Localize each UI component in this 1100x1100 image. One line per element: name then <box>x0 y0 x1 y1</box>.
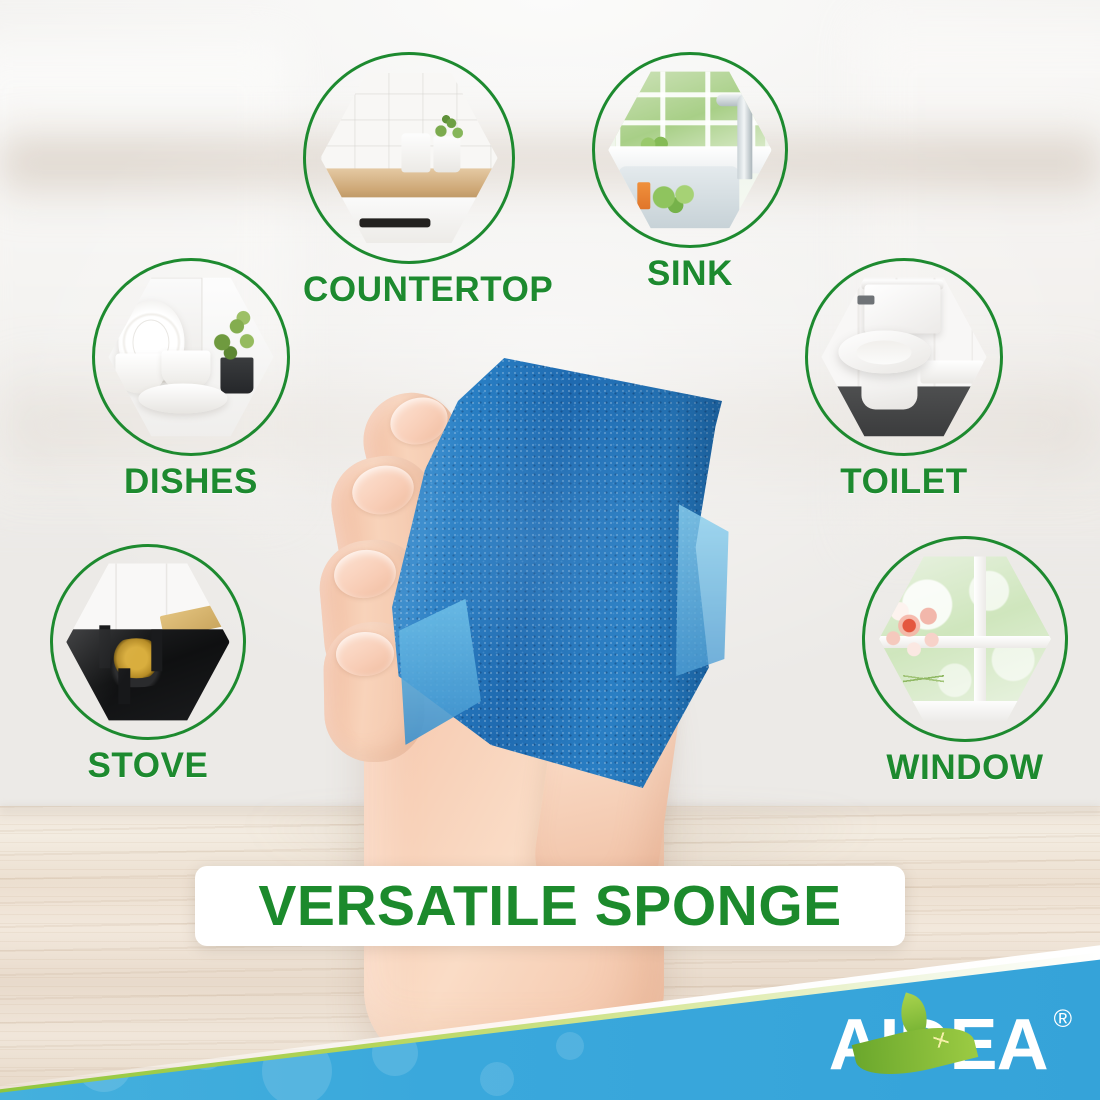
sk-vegetables <box>644 179 709 215</box>
tl-bowl <box>838 331 930 374</box>
stove-photo-icon <box>66 560 229 723</box>
feature-badge-toilet: TOILET <box>805 258 1003 502</box>
ds-tray <box>138 383 227 413</box>
ds-plant <box>204 311 263 364</box>
feature-badge-window: WINDOW <box>862 536 1068 788</box>
product-marketing-image: COUNTERTOP SINK <box>0 0 1100 1100</box>
sponge-edge-right <box>676 504 729 676</box>
tl-flush-lever <box>858 296 875 304</box>
stove-scene <box>66 560 229 723</box>
wd-sill <box>879 701 1051 725</box>
tl-tank <box>864 284 940 334</box>
feature-label-dishes: DISHES <box>92 462 290 502</box>
headline-banner: VERSATILE SPONGE <box>195 866 905 946</box>
countertop-scene <box>320 69 497 246</box>
st-cooktop-gloss <box>66 629 229 724</box>
sk-faucet <box>737 94 752 179</box>
window-ring <box>862 536 1068 742</box>
feature-label-toilet: TOILET <box>805 462 1003 502</box>
feature-badge-dishes: DISHES <box>92 258 290 502</box>
sponge-pad <box>392 358 722 788</box>
dishes-ring <box>92 258 290 456</box>
feature-label-window: WINDOW <box>862 748 1068 788</box>
feature-badge-countertop: COUNTERTOP <box>303 52 515 310</box>
sink-photo-icon <box>608 68 771 231</box>
tl-baseboard <box>921 360 984 383</box>
sink-scene <box>608 68 771 231</box>
feature-label-countertop: COUNTERTOP <box>303 270 515 310</box>
toilet-scene <box>821 274 986 439</box>
window-scene <box>879 553 1051 725</box>
countertop-photo-icon <box>320 69 497 246</box>
feature-label-sink: SINK <box>592 254 788 294</box>
window-photo-icon <box>879 553 1051 725</box>
wd-flowers <box>882 594 961 673</box>
feature-badge-stove: STOVE <box>50 544 246 786</box>
ct-jar <box>402 133 430 172</box>
countertop-ring <box>303 52 515 264</box>
ct-cabinet-handle <box>359 218 430 227</box>
feature-badge-sink: SINK <box>592 52 788 294</box>
dishes-scene <box>108 274 273 439</box>
ct-wood-countertop <box>320 169 497 197</box>
stove-ring <box>50 544 246 740</box>
dishes-photo-icon <box>108 274 273 439</box>
toilet-ring <box>805 258 1003 456</box>
headline-text: VERSATILE SPONGE <box>258 873 841 939</box>
feature-label-stove: STOVE <box>50 746 246 786</box>
ct-plant <box>430 112 465 144</box>
sink-ring <box>592 52 788 248</box>
toilet-photo-icon <box>821 274 986 439</box>
